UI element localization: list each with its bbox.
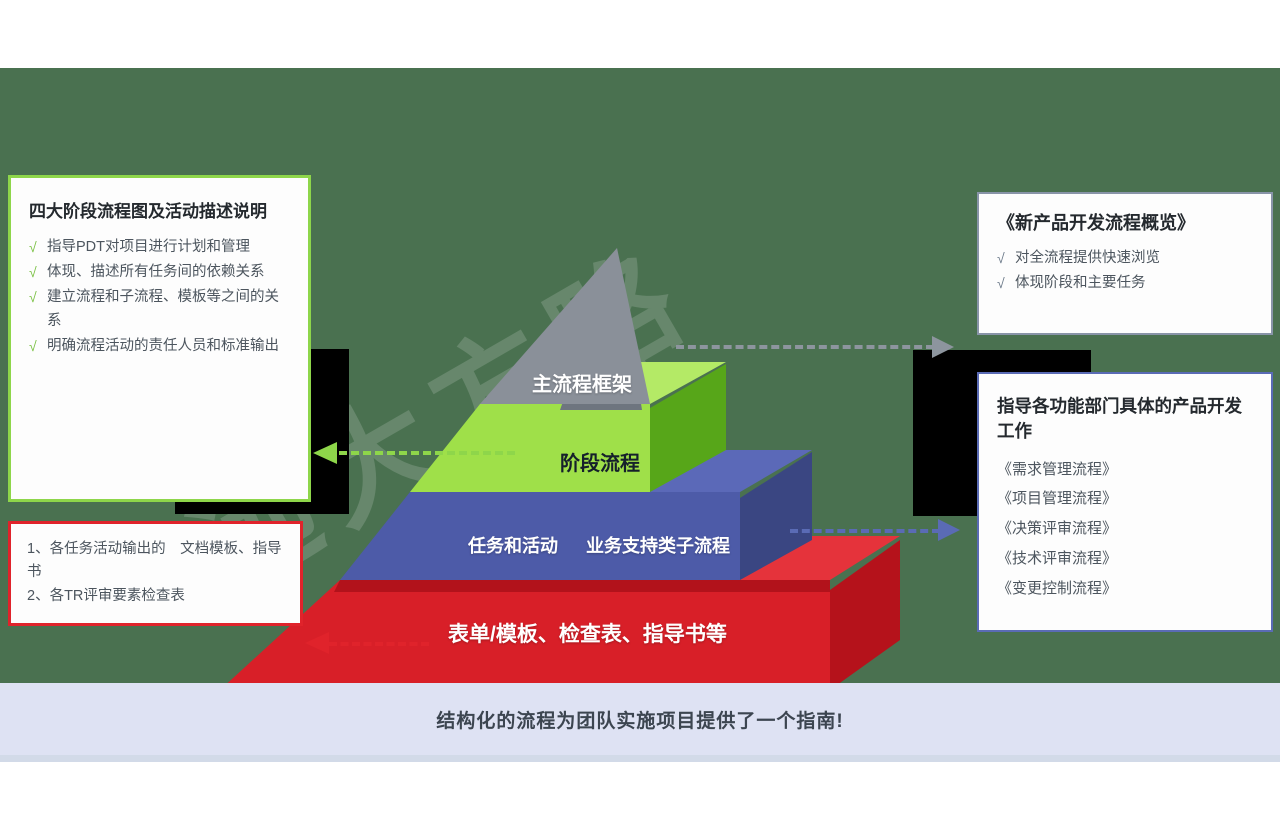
panel-task-outputs: 1、各任务活动输出的 文档模板、指导书 2、各TR评审要素检查表 bbox=[8, 521, 303, 626]
pyramid-layer-1-label: 主流程框架 bbox=[532, 368, 632, 397]
list-item: 2、各TR评审要素检查表 bbox=[27, 585, 286, 608]
check-icon: √ bbox=[29, 334, 37, 358]
panel-list: √ 对全流程提供快速浏览 √ 体现阶段和主要任务 bbox=[997, 246, 1257, 296]
list-item-label: 体现阶段和主要任务 bbox=[1015, 275, 1146, 291]
list-number: 2、 bbox=[27, 588, 50, 604]
list-item: √ 体现、描述所有任务间的依赖关系 bbox=[29, 260, 292, 285]
list-item: 1、各任务活动输出的 文档模板、指导书 bbox=[27, 538, 286, 585]
list-item-label: 建立流程和子流程、模板等之间的关系 bbox=[47, 289, 279, 330]
list-item: √ 体现阶段和主要任务 bbox=[997, 271, 1257, 296]
list-item-label: 各TR评审要素检查表 bbox=[50, 588, 185, 604]
list-item: 《变更控制流程》 bbox=[997, 574, 1257, 604]
panel-four-phase-flow: 四大阶段流程图及活动描述说明 √ 指导PDT对项目进行计划和管理 √ 体现、描述… bbox=[8, 175, 311, 502]
list-item-label: 明确流程活动的责任人员和标准输出 bbox=[47, 338, 279, 354]
list-item: √ 明确流程活动的责任人员和标准输出 bbox=[29, 334, 292, 359]
list-item-label: 对全流程提供快速浏览 bbox=[1015, 250, 1160, 266]
check-icon: √ bbox=[997, 246, 1005, 270]
footer-shadow-strip bbox=[0, 755, 1280, 762]
arrow-head-right-icon bbox=[932, 336, 954, 358]
pyramid-layer-4-front-bevel bbox=[334, 580, 830, 592]
list-item: √ 指导PDT对项目进行计划和管理 bbox=[29, 235, 292, 260]
list-item: 《需求管理流程》 bbox=[997, 455, 1257, 485]
panel-numbered-list: 1、各任务活动输出的 文档模板、指导书 2、各TR评审要素检查表 bbox=[27, 538, 286, 608]
panel-list: 《需求管理流程》 《项目管理流程》 《决策评审流程》 《技术评审流程》 《变更控… bbox=[997, 455, 1257, 603]
arrow-head-left-icon bbox=[305, 632, 329, 654]
panel-heading: 四大阶段流程图及活动描述说明 bbox=[29, 200, 292, 225]
panel-list: √ 指导PDT对项目进行计划和管理 √ 体现、描述所有任务间的依赖关系 √ 建立… bbox=[29, 235, 292, 360]
list-item: 《技术评审流程》 bbox=[997, 544, 1257, 574]
arrow-line bbox=[339, 451, 515, 455]
pyramid-layer-4-label: 表单/模板、检查表、指导书等 bbox=[448, 618, 727, 648]
list-item: 《项目管理流程》 bbox=[997, 484, 1257, 514]
list-item-label: 体现、描述所有任务间的依赖关系 bbox=[47, 264, 265, 280]
arrow-line bbox=[329, 642, 429, 646]
list-item: √ 建立流程和子流程、模板等之间的关系 bbox=[29, 285, 292, 335]
footer-caption: 结构化的流程为团队实施项目提供了一个指南! bbox=[0, 683, 1280, 755]
check-icon: √ bbox=[29, 260, 37, 284]
list-item-label: 各任务活动输出的 文档模板、指导书 bbox=[27, 541, 282, 580]
arrow-line bbox=[676, 345, 934, 349]
pyramid-layer-2-label: 阶段流程 bbox=[560, 447, 640, 476]
list-item-label: 指导PDT对项目进行计划和管理 bbox=[47, 239, 250, 255]
arrow-head-right-icon bbox=[938, 519, 960, 541]
arrow-line bbox=[790, 529, 940, 533]
arrow-head-left-icon bbox=[313, 442, 337, 464]
check-icon: √ bbox=[29, 285, 37, 309]
list-number: 1、 bbox=[27, 541, 50, 557]
list-item: √ 对全流程提供快速浏览 bbox=[997, 246, 1257, 271]
list-item: 《决策评审流程》 bbox=[997, 514, 1257, 544]
panel-heading: 指导各功能部门具体的产品开发工作 bbox=[997, 394, 1257, 445]
check-icon: √ bbox=[29, 235, 37, 259]
panel-process-overview: 《新产品开发流程概览》 √ 对全流程提供快速浏览 √ 体现阶段和主要任务 bbox=[977, 192, 1273, 335]
pyramid-layer-3-label: 任务和活动业务支持类子流程 bbox=[468, 532, 730, 558]
panel-heading: 《新产品开发流程概览》 bbox=[997, 210, 1257, 236]
slide-root: IPD集成产品开发管理体系结构化开发流程 远大方略 bbox=[0, 0, 1280, 837]
panel-functional-guidance: 指导各功能部门具体的产品开发工作 《需求管理流程》 《项目管理流程》 《决策评审… bbox=[977, 372, 1273, 632]
check-icon: √ bbox=[997, 271, 1005, 295]
